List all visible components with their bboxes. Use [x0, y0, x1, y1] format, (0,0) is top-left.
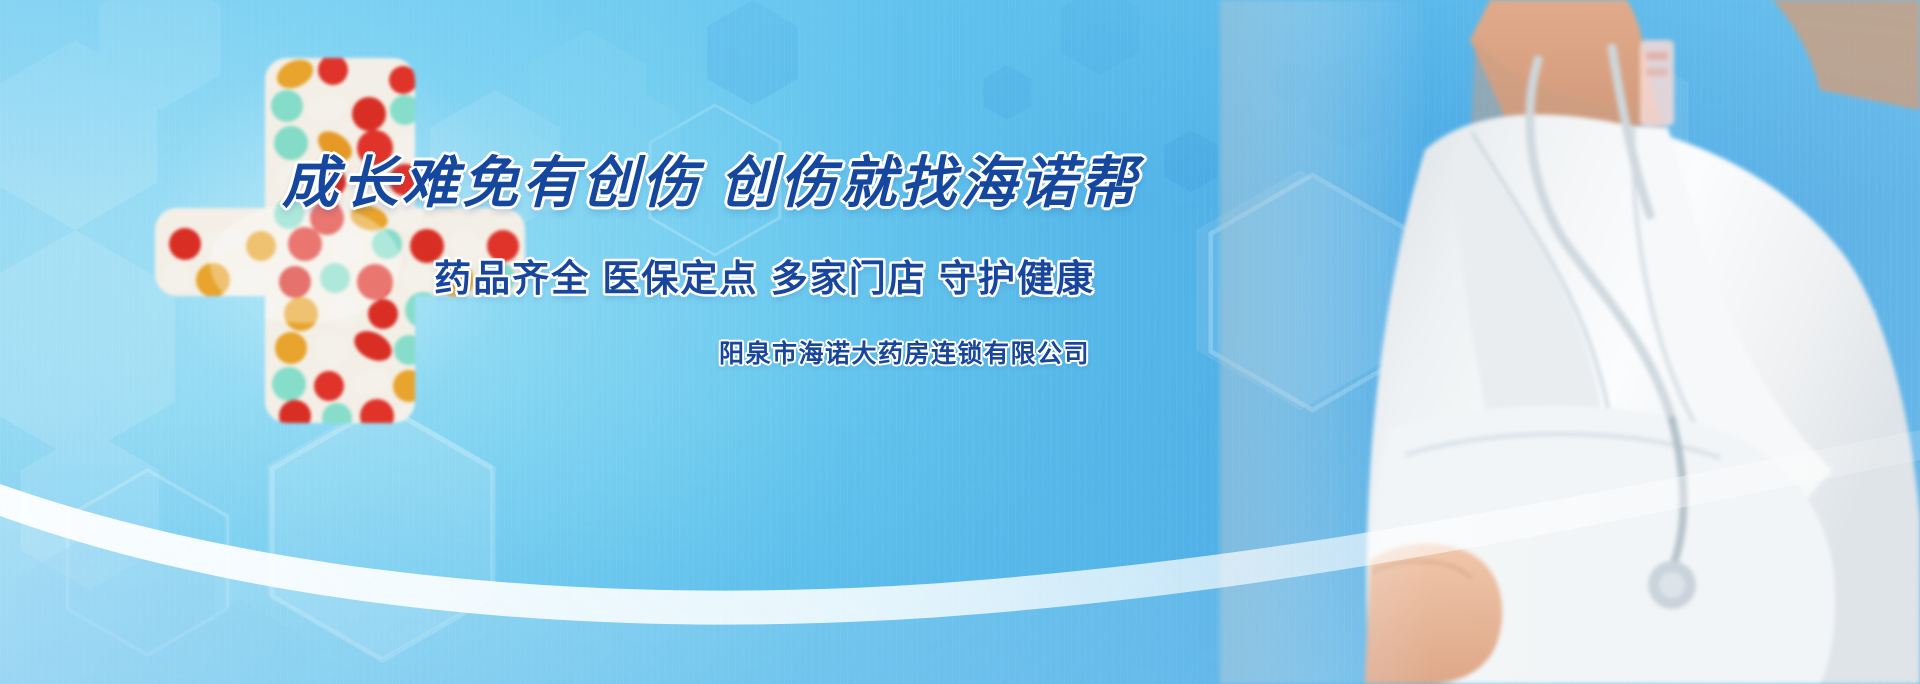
doctor-icon — [1220, 0, 1920, 684]
pharmacy-promo-banner: 成长难免有创伤 创伤就找海诺帮 药品齐全 医保定点 多家门店 守护健康 阳泉市海… — [0, 0, 1920, 684]
pill-cross-icon — [155, 48, 525, 423]
